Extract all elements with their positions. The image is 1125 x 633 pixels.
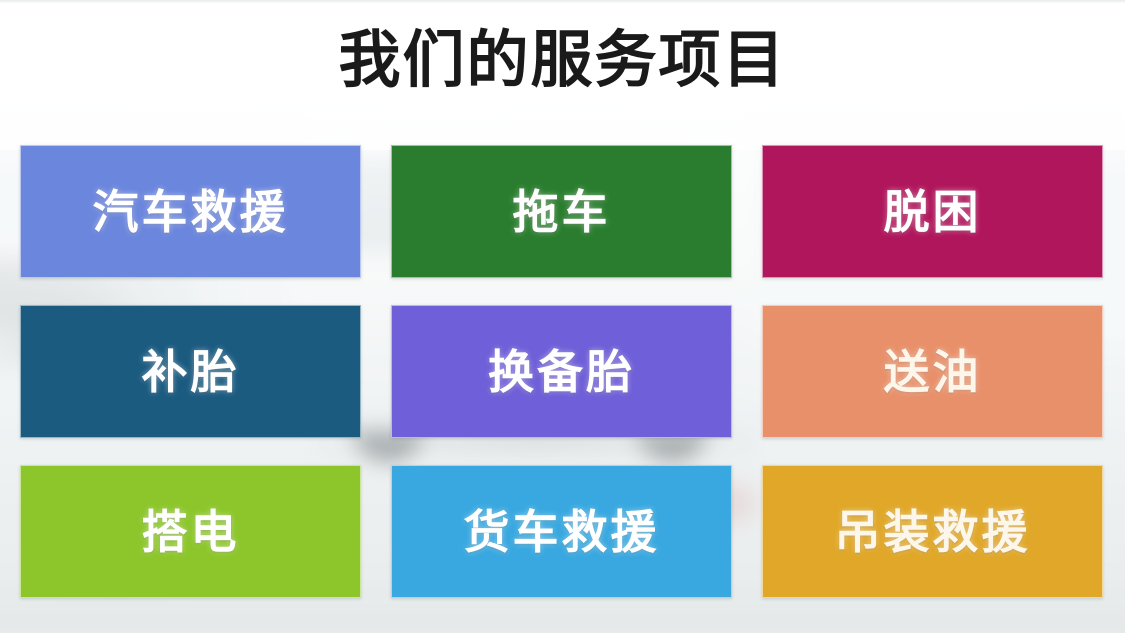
page-title: 我们的服务项目 — [338, 22, 786, 98]
service-tile-towing[interactable]: 拖车 — [391, 145, 732, 278]
service-tile-truck-rescue[interactable]: 货车救援 — [391, 465, 732, 598]
service-tile-roadside-assistance[interactable]: 汽车救援 — [20, 145, 361, 278]
service-poster-screen: 我们的服务项目 汽车救援 拖车 脱困 补胎 换备胎 送油 搭电 货车救援 吊装救… — [0, 0, 1125, 633]
service-tile-jump-start[interactable]: 搭电 — [20, 465, 361, 598]
service-tile-label: 搭电 — [142, 506, 240, 558]
service-tile-fuel-delivery[interactable]: 送油 — [762, 305, 1103, 438]
service-tile-label: 拖车 — [513, 186, 611, 238]
service-grid: 汽车救援 拖车 脱困 补胎 换备胎 送油 搭电 货车救援 吊装救援 — [20, 145, 1103, 598]
service-tile-spare-tire-change[interactable]: 换备胎 — [391, 305, 732, 438]
top-divider-line — [0, 0, 1125, 3]
service-tile-tire-repair[interactable]: 补胎 — [20, 305, 361, 438]
service-tile-label: 补胎 — [142, 346, 240, 398]
service-tile-label: 脱困 — [884, 186, 982, 238]
service-tile-label: 吊装救援 — [835, 506, 1031, 558]
service-tile-label: 送油 — [884, 346, 982, 398]
service-tile-label: 汽车救援 — [93, 186, 289, 238]
service-tile-label: 货车救援 — [464, 506, 660, 558]
service-tile-crane-rescue[interactable]: 吊装救援 — [762, 465, 1103, 598]
service-tile-extrication[interactable]: 脱困 — [762, 145, 1103, 278]
page-title-area: 我们的服务项目 — [0, 22, 1125, 98]
service-tile-label: 换备胎 — [488, 346, 635, 398]
